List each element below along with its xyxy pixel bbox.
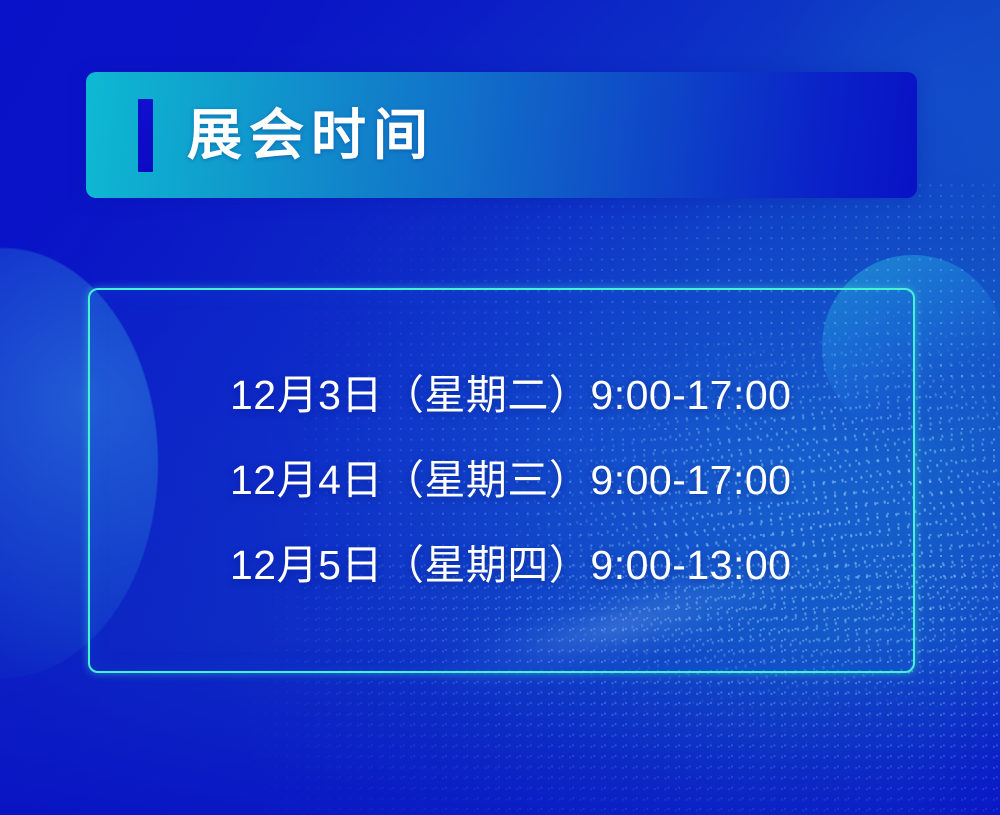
list-item: 12月5日（星期四）9:00-13:00 [230, 545, 791, 586]
schedule-list: 12月3日（星期二）9:00-17:00 12月4日（星期三）9:00-17:0… [90, 375, 791, 586]
list-item: 12月3日（星期二）9:00-17:00 [230, 375, 791, 416]
section-header-banner: 展会时间 [86, 72, 917, 198]
poster-canvas: 展会时间 12月3日（星期二）9:00-17:00 12月4日（星期三）9:00… [0, 0, 1000, 815]
page-title: 展会时间 [187, 108, 435, 163]
header-accent-bar [138, 99, 153, 172]
schedule-frame: 12月3日（星期二）9:00-17:00 12月4日（星期三）9:00-17:0… [88, 288, 915, 673]
list-item: 12月4日（星期三）9:00-17:00 [230, 460, 791, 501]
